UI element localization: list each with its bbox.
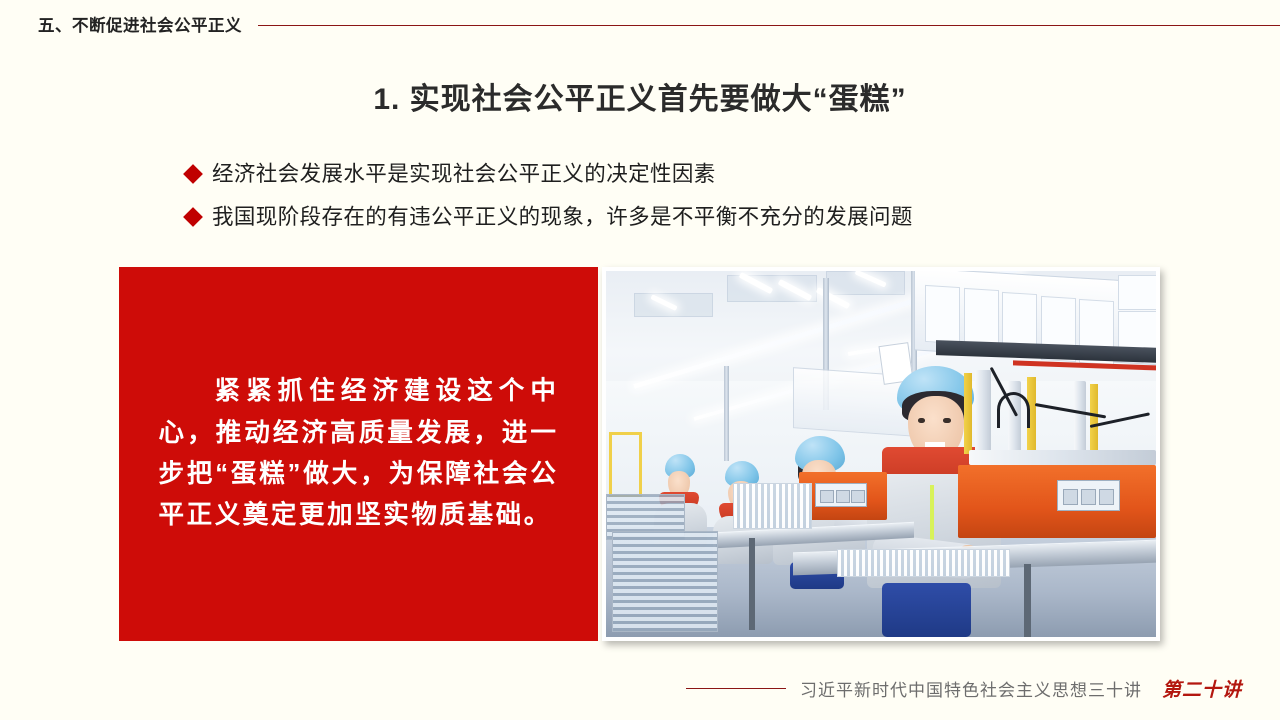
panel-button[interactable] bbox=[1099, 489, 1114, 504]
product-tray bbox=[733, 483, 812, 529]
bullet-text: 经济社会发展水平是实现社会公平正义的决定性因素 bbox=[212, 160, 716, 189]
product-tray bbox=[837, 549, 1010, 577]
worker-pants bbox=[882, 583, 971, 637]
pneumatic-column bbox=[1074, 381, 1086, 454]
machine-control-panel bbox=[815, 483, 867, 507]
list-item: 经济社会发展水平是实现社会公平正义的决定性因素 bbox=[186, 160, 1166, 189]
footer-series-title: 习近平新时代中国特色社会主义思想三十讲 bbox=[800, 676, 1142, 701]
bench-leg bbox=[1024, 564, 1031, 637]
diamond-bullet-icon bbox=[183, 207, 203, 227]
bullet-list: 经济社会发展水平是实现社会公平正义的决定性因素 我国现阶段存在的有违公平正义的现… bbox=[186, 160, 1166, 246]
quote-callout-box: 紧紧抓住经济建设这个中心，推动经济高质量发展，进一步把“蛋糕”做大，为保障社会公… bbox=[119, 267, 598, 641]
worker-eye bbox=[943, 418, 950, 424]
list-item: 我国现阶段存在的有违公平正义的现象，许多是不平衡不充分的发展问题 bbox=[186, 203, 1166, 232]
machine-control-panel bbox=[1057, 480, 1120, 511]
factory-photo bbox=[606, 271, 1156, 637]
slide-header: 五、不断促进社会公平正义 bbox=[0, 10, 1280, 38]
panel-button[interactable] bbox=[851, 490, 865, 503]
shelf-box bbox=[925, 285, 960, 344]
ceiling-post bbox=[724, 366, 728, 461]
header-rule bbox=[258, 25, 1280, 27]
panel-button[interactable] bbox=[1063, 489, 1078, 504]
panel-button[interactable] bbox=[1081, 489, 1096, 504]
bench-leg bbox=[749, 538, 755, 630]
quote-text: 紧紧抓住经济建设这个中心，推动经济高质量发展，进一步把“蛋糕”做大，为保障社会公… bbox=[159, 371, 559, 536]
panel-button[interactable] bbox=[820, 490, 834, 503]
diamond-bullet-icon bbox=[183, 164, 203, 184]
footer-lecture-label: 第二十讲 bbox=[1162, 675, 1242, 702]
footer-rule bbox=[686, 688, 786, 690]
yellow-guard bbox=[964, 373, 973, 454]
pneumatic-column bbox=[975, 370, 992, 462]
factory-photo-frame bbox=[602, 267, 1160, 641]
air-hose bbox=[997, 392, 1031, 428]
panel-button[interactable] bbox=[836, 490, 850, 503]
yellow-guard bbox=[1090, 384, 1098, 454]
page-title: 1. 实现社会公平正义首先要做大“蛋糕” bbox=[0, 74, 1280, 118]
linear-actuator bbox=[969, 450, 1156, 465]
slide-footer: 习近平新时代中国特色社会主义思想三十讲 第二十讲 bbox=[0, 675, 1280, 702]
section-label: 五、不断促进社会公平正义 bbox=[38, 12, 242, 36]
bullet-text: 我国现阶段存在的有违公平正义的现象，许多是不平衡不充分的发展问题 bbox=[212, 203, 913, 232]
parts-stack bbox=[612, 531, 719, 632]
shelf-box bbox=[1118, 275, 1157, 310]
wall-marker bbox=[609, 432, 643, 497]
